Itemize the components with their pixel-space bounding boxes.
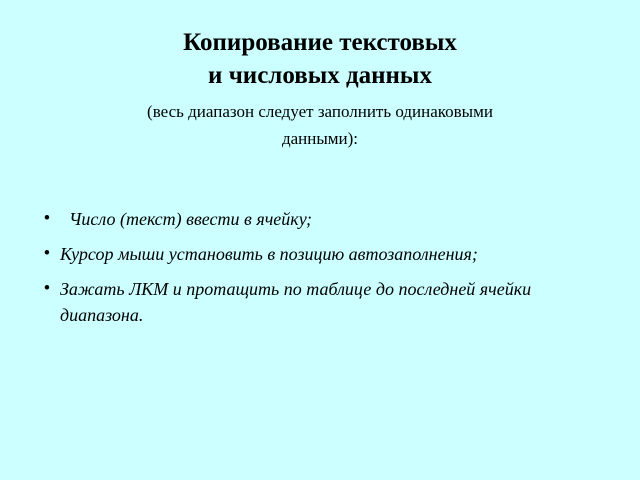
- list-item-text: Курсор мыши установить в позицию автозап…: [60, 241, 606, 267]
- list-item-text: Число (текст) ввести в ячейку;: [60, 206, 606, 232]
- list-item: • Курсор мыши установить в позицию автоз…: [34, 241, 606, 267]
- slide-subtitle: (весь диапазон следует заполнить одинако…: [0, 92, 640, 152]
- list-item: • Зажать ЛКМ и протащить по таблице до п…: [34, 276, 606, 328]
- list-item: • Число (текст) ввести в ячейку;: [34, 206, 606, 232]
- subtitle-line-1: (весь диапазон следует заполнить одинако…: [58, 98, 582, 125]
- slide-title: Копирование текстовых и числовых данных: [0, 0, 640, 92]
- bullet-icon: •: [34, 206, 60, 232]
- bullet-icon: •: [34, 276, 60, 302]
- list-item-text: Зажать ЛКМ и протащить по таблице до пос…: [60, 276, 606, 328]
- bullet-icon: •: [34, 241, 60, 267]
- title-line-2: и числовых данных: [0, 59, 640, 92]
- slide-canvas: Копирование текстовых и числовых данных …: [0, 0, 640, 480]
- bullet-list: • Число (текст) ввести в ячейку; • Курсо…: [34, 206, 606, 337]
- subtitle-line-2: данными):: [58, 125, 582, 152]
- title-line-1: Копирование текстовых: [0, 26, 640, 59]
